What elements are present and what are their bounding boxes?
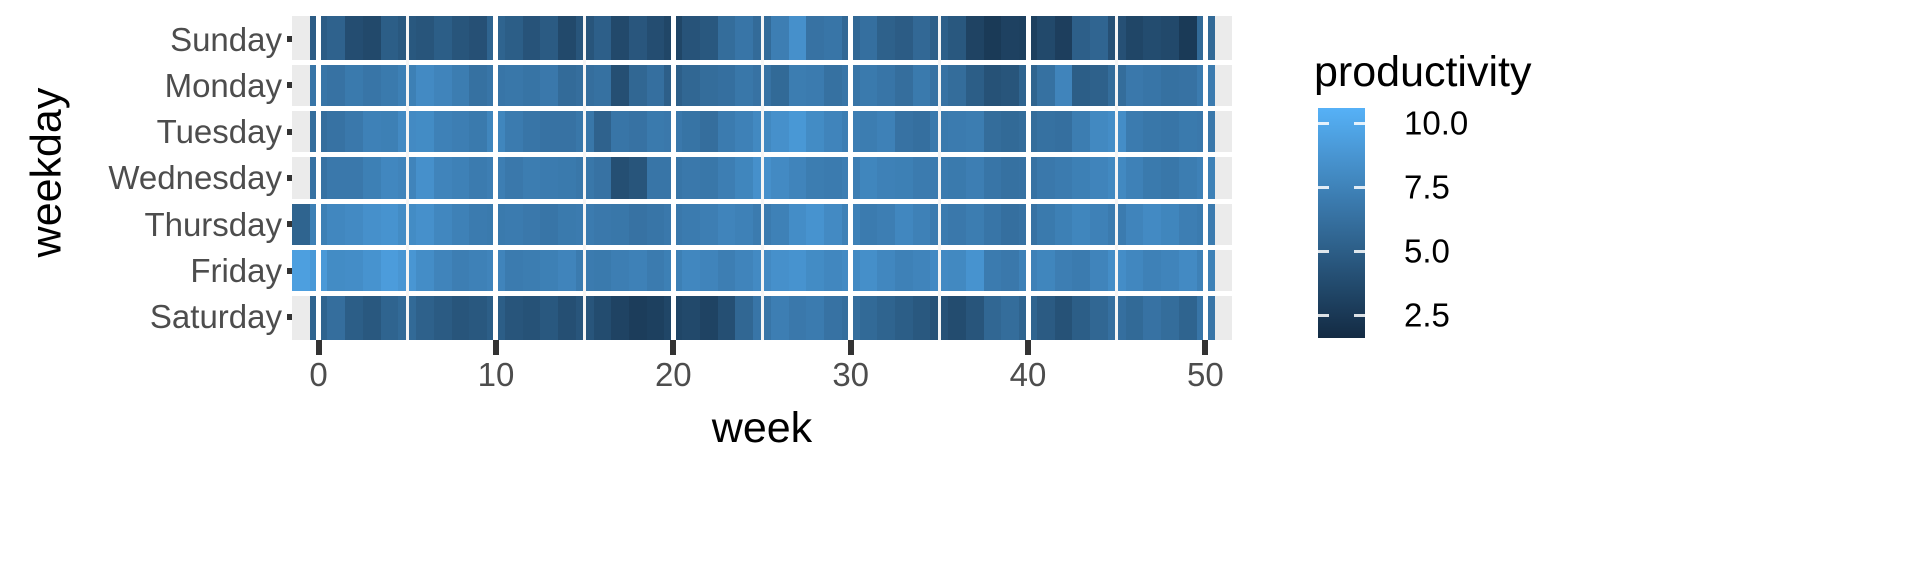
heatmap-tile — [345, 62, 363, 109]
heatmap-tile — [1037, 247, 1055, 294]
x-tick-label: 30 — [832, 358, 869, 391]
heatmap-tile — [1072, 62, 1090, 109]
heatmap-tile — [966, 109, 984, 156]
heatmap-tile — [629, 62, 647, 109]
heatmap-tile — [345, 294, 363, 340]
y-tick-friday: Friday — [82, 247, 282, 293]
heatmap-tile — [1001, 294, 1019, 340]
heatmap-tile — [771, 109, 789, 156]
heatmap-tile — [735, 62, 753, 109]
heatmap-tile — [1126, 109, 1144, 156]
heatmap-tile — [452, 16, 470, 63]
heatmap-tile — [540, 155, 558, 202]
heatmap-tile — [682, 247, 700, 294]
heatmap-tile — [611, 201, 629, 248]
y-tick-thursday: Thursday — [82, 201, 282, 247]
heatmap-tile — [540, 294, 558, 340]
heatmap-tile — [789, 109, 807, 156]
heatmap-tile — [913, 294, 931, 340]
heatmap-tile — [381, 16, 399, 63]
heatmap-tile — [523, 201, 541, 248]
heatmap-tile — [434, 294, 452, 340]
heatmap-tile — [381, 294, 399, 340]
heatmap-tile — [913, 201, 931, 248]
x-tick-mark — [1202, 340, 1208, 355]
heatmap-tile — [1055, 62, 1073, 109]
heatmap-tile — [647, 109, 665, 156]
heatmap-tile — [1161, 109, 1179, 156]
heatmap-tile — [895, 294, 913, 340]
heatmap-tile — [1126, 201, 1144, 248]
heatmap-tile — [1143, 294, 1161, 340]
heatmap-tile — [452, 109, 470, 156]
heatmap-tile — [984, 109, 1002, 156]
heatmap-tile — [327, 294, 345, 340]
heatmap-tile — [1090, 155, 1108, 202]
x-tick-label: 0 — [309, 358, 327, 391]
heatmap-tile — [860, 247, 878, 294]
heatmap-tile — [682, 109, 700, 156]
heatmap-tile — [416, 155, 434, 202]
legend-tick-label: 2.5 — [1404, 299, 1450, 332]
heatmap-tile — [824, 247, 842, 294]
vertical-gridline-minor — [1115, 16, 1118, 340]
legend-colorbar: 10.07.55.02.5 — [1318, 108, 1365, 338]
heatmap-tile — [771, 155, 789, 202]
y-tick-saturday: Saturday — [82, 294, 282, 340]
x-tick-mark — [670, 340, 676, 355]
heatmap-tile — [806, 155, 824, 202]
heatmap-tile — [771, 247, 789, 294]
heatmap-tile — [1143, 155, 1161, 202]
heatmap-tile — [327, 201, 345, 248]
heatmap-tile — [469, 247, 487, 294]
heatmap-tile — [505, 62, 523, 109]
heatmap-tile — [682, 294, 700, 340]
legend-tick-mark — [1354, 186, 1365, 189]
heatmap-tile — [948, 109, 966, 156]
legend-tick-mark — [1354, 314, 1365, 317]
heatmap-tile — [594, 201, 612, 248]
heatmap-tile — [895, 155, 913, 202]
heatmap-tile — [434, 155, 452, 202]
heatmap-tile — [416, 294, 434, 340]
heatmap-tile — [363, 16, 381, 63]
heatmap-tile — [558, 247, 576, 294]
heatmap-tile — [327, 16, 345, 63]
heatmap-tile — [505, 155, 523, 202]
heatmap-tile — [1037, 16, 1055, 63]
heatmap-tile — [416, 109, 434, 156]
heatmap-tile — [877, 16, 895, 63]
heatmap-tile — [966, 247, 984, 294]
heatmap-tile — [682, 16, 700, 63]
heatmap-tile — [1179, 294, 1197, 340]
heatmap-tile — [1126, 247, 1144, 294]
heatmap-tile — [1179, 109, 1197, 156]
heatmap-tile — [540, 109, 558, 156]
heatmap-tile — [1090, 62, 1108, 109]
heatmap-tile — [1001, 16, 1019, 63]
heatmap-tile — [895, 201, 913, 248]
heatmap-tile — [523, 247, 541, 294]
x-axis-title-text: week — [712, 404, 812, 452]
heatmap-tile — [416, 201, 434, 248]
heatmap-tile — [469, 109, 487, 156]
y-tick-label: Tuesday — [157, 115, 282, 148]
heatmap-tile — [1072, 16, 1090, 63]
heatmap-tile — [345, 16, 363, 63]
vertical-gridline-major — [671, 16, 676, 340]
vertical-gridline-minor — [938, 16, 941, 340]
heatmap-tile — [452, 247, 470, 294]
y-tick-label: Sunday — [170, 23, 282, 56]
heatmap-tile — [540, 201, 558, 248]
heatmap-tile — [416, 247, 434, 294]
heatmap-tile — [327, 109, 345, 156]
heatmap-tile — [452, 201, 470, 248]
heatmap-tile — [1161, 16, 1179, 63]
x-axis: 01020304050 — [292, 340, 1232, 400]
x-tick-mark — [848, 340, 854, 355]
heatmap-tile — [735, 16, 753, 63]
heatmap-tile — [966, 294, 984, 340]
y-tick-label: Thursday — [144, 208, 282, 241]
legend-title: productivity — [1314, 48, 1531, 97]
heatmap-tile — [806, 16, 824, 63]
heatmap-tile — [718, 294, 736, 340]
heatmap-tile — [469, 16, 487, 63]
heatmap-tile — [735, 201, 753, 248]
y-axis-title: weekday — [12, 0, 82, 345]
heatmap-tile — [700, 201, 718, 248]
heatmap-tile — [824, 294, 842, 340]
heatmap-tile — [682, 201, 700, 248]
heatmap-tile — [895, 62, 913, 109]
heatmap-tile — [523, 62, 541, 109]
legend-tick-mark — [1318, 314, 1329, 317]
heatmap-tile — [1143, 201, 1161, 248]
heatmap-tile — [1037, 109, 1055, 156]
heatmap-tile — [700, 155, 718, 202]
heatmap-tile — [327, 247, 345, 294]
heatmap-tile — [1161, 155, 1179, 202]
heatmap-tile — [363, 155, 381, 202]
heatmap-tile — [1126, 62, 1144, 109]
heatmap-tile — [789, 16, 807, 63]
heatmap-tile — [629, 201, 647, 248]
heatmap-tile — [1090, 109, 1108, 156]
heatmap-tile — [1055, 201, 1073, 248]
x-tick-label: 40 — [1010, 358, 1047, 391]
heatmap-tile — [469, 62, 487, 109]
heatmap-tile — [558, 16, 576, 63]
y-tick-label: Saturday — [150, 300, 282, 333]
y-tick-label: Friday — [190, 254, 282, 287]
y-tick-label: Wednesday — [108, 161, 282, 194]
heatmap-tile — [700, 16, 718, 63]
heatmap-tile — [558, 62, 576, 109]
heatmap-tile — [984, 247, 1002, 294]
vertical-gridline-major — [1203, 16, 1208, 340]
heatmap-tile — [948, 294, 966, 340]
heatmap-tile — [345, 155, 363, 202]
heatmap-tile — [345, 109, 363, 156]
heatmap-tile — [540, 16, 558, 63]
y-tick-monday: Monday — [82, 62, 282, 108]
heatmap-tile — [1161, 201, 1179, 248]
heatmap-tile — [1072, 109, 1090, 156]
heatmap-tile — [647, 201, 665, 248]
heatmap-tile — [682, 62, 700, 109]
heatmap-tile — [1143, 62, 1161, 109]
heatmap-tile — [966, 16, 984, 63]
y-tick-label: Monday — [165, 69, 282, 102]
x-tick-label: 50 — [1187, 358, 1224, 391]
heatmap-tile — [647, 155, 665, 202]
heatmap-tile — [771, 294, 789, 340]
heatmap-tile — [1037, 294, 1055, 340]
heatmap-tile — [860, 201, 878, 248]
x-tick-mark — [1025, 340, 1031, 355]
heatmap-tile — [789, 62, 807, 109]
y-tick-wednesday: Wednesday — [82, 155, 282, 201]
vertical-gridline-minor — [761, 16, 764, 340]
heatmap-tile-extra — [292, 201, 310, 248]
heatmap-tile — [877, 109, 895, 156]
heatmap-tile — [771, 16, 789, 63]
heatmap-tile — [700, 247, 718, 294]
legend-tick-mark — [1318, 122, 1329, 125]
heatmap-tile — [877, 155, 895, 202]
heatmap-tile — [594, 247, 612, 294]
heatmap-tile — [540, 62, 558, 109]
heatmap-tile — [789, 247, 807, 294]
vertical-gridline-major — [1026, 16, 1031, 340]
heatmap-tile — [948, 155, 966, 202]
legend: productivity 10.07.55.02.5 — [1300, 40, 1680, 340]
heatmap-tile — [1143, 247, 1161, 294]
heatmap-tile — [381, 109, 399, 156]
heatmap-tile — [984, 16, 1002, 63]
heatmap-tile — [1037, 155, 1055, 202]
heatmap-tile — [1126, 16, 1144, 63]
heatmap-tile — [877, 201, 895, 248]
heatmap-tile — [806, 247, 824, 294]
heatmap-tile — [523, 16, 541, 63]
plot-panel — [292, 16, 1232, 340]
heatmap-tile — [1072, 294, 1090, 340]
heatmap-tile — [381, 201, 399, 248]
heatmap-tile — [824, 62, 842, 109]
y-tick-tuesday: Tuesday — [82, 109, 282, 155]
heatmap-tile — [647, 16, 665, 63]
heatmap-tile — [327, 155, 345, 202]
heatmap-tile — [452, 294, 470, 340]
heatmap-tile — [895, 247, 913, 294]
heatmap-tile — [806, 62, 824, 109]
heatmap-tile — [558, 294, 576, 340]
heatmap-tile — [1179, 201, 1197, 248]
heatmap-tile — [1072, 201, 1090, 248]
heatmap-tile — [1072, 247, 1090, 294]
heatmap-tile — [505, 247, 523, 294]
heatmap-tile — [682, 155, 700, 202]
heatmap-tile — [363, 109, 381, 156]
x-tick-mark — [493, 340, 499, 355]
heatmap-tile — [1055, 155, 1073, 202]
heatmap-tile — [1090, 294, 1108, 340]
heatmap-tile — [611, 155, 629, 202]
heatmap-tile — [594, 155, 612, 202]
heatmap-tile — [452, 62, 470, 109]
heatmap-tile — [505, 109, 523, 156]
heatmap-tile — [984, 155, 1002, 202]
heatmap-tile — [523, 155, 541, 202]
heatmap-tile — [700, 294, 718, 340]
heatmap-tile — [735, 247, 753, 294]
x-tick-label: 10 — [478, 358, 515, 391]
heatmap-tile — [416, 16, 434, 63]
heatmap-tile — [718, 109, 736, 156]
heatmap-tile — [771, 201, 789, 248]
heatmap-tile — [948, 62, 966, 109]
legend-tick-mark — [1354, 122, 1365, 125]
heatmap-tile — [895, 16, 913, 63]
heatmap-tile — [1161, 62, 1179, 109]
heatmap-tile — [1143, 16, 1161, 63]
heatmap-tile — [913, 109, 931, 156]
heatmap-tile — [1001, 155, 1019, 202]
heatmap-tile — [860, 155, 878, 202]
heatmap-tile — [363, 294, 381, 340]
heatmap-tile — [966, 201, 984, 248]
heatmap-tile — [860, 294, 878, 340]
heatmap-tile — [789, 294, 807, 340]
heatmap-tile — [558, 109, 576, 156]
heatmap-tile — [1001, 109, 1019, 156]
heatmap-tile — [948, 16, 966, 63]
heatmap-tile — [1161, 294, 1179, 340]
heatmap-tile — [806, 294, 824, 340]
heatmap-tile — [469, 201, 487, 248]
heatmap-tile — [1179, 16, 1197, 63]
heatmap-tile — [345, 247, 363, 294]
heatmap-tile — [860, 16, 878, 63]
heatmap-tile — [913, 155, 931, 202]
heatmap-tile — [966, 155, 984, 202]
heatmap-tile — [1001, 201, 1019, 248]
heatmap-tile — [327, 62, 345, 109]
heatmap-tile — [629, 294, 647, 340]
heatmap-tile — [1179, 247, 1197, 294]
heatmap-tile — [1179, 155, 1197, 202]
heatmap-tile — [735, 294, 753, 340]
heatmap-tile — [1001, 62, 1019, 109]
heatmap-tile — [594, 109, 612, 156]
heatmap-tile — [824, 201, 842, 248]
heatmap-tile — [1055, 16, 1073, 63]
heatmap-tile — [984, 62, 1002, 109]
heatmap-tile — [1055, 247, 1073, 294]
heatmap-tile — [363, 62, 381, 109]
heatmap-tile — [594, 62, 612, 109]
heatmap-tile — [469, 294, 487, 340]
heatmap-tile — [824, 109, 842, 156]
heatmap-tile — [345, 201, 363, 248]
y-axis-title-text: weekday — [23, 88, 72, 258]
heatmap-tile — [1055, 294, 1073, 340]
heatmap-tile — [647, 294, 665, 340]
heatmap-tile — [1072, 155, 1090, 202]
heatmap-tile — [824, 155, 842, 202]
legend-tick-label: 10.0 — [1404, 107, 1468, 140]
heatmap-tile — [594, 16, 612, 63]
heatmap-tile — [611, 109, 629, 156]
heatmap-tile — [984, 201, 1002, 248]
heatmap-tile — [1055, 109, 1073, 156]
heatmap-tile — [611, 247, 629, 294]
heatmap-tile — [913, 16, 931, 63]
heatmap-tile — [1090, 16, 1108, 63]
heatmap-tile — [735, 109, 753, 156]
heatmap-tile — [718, 16, 736, 63]
x-tick-mark — [316, 340, 322, 355]
heatmap-tile — [860, 62, 878, 109]
heatmap-tile — [434, 201, 452, 248]
heatmap-tile — [611, 16, 629, 63]
heatmap-tile — [647, 62, 665, 109]
heatmap-tile — [913, 62, 931, 109]
heatmap-tile — [452, 155, 470, 202]
heatmap-tile — [505, 16, 523, 63]
x-axis-title: week — [292, 404, 1232, 453]
legend-tick-label: 5.0 — [1404, 235, 1450, 268]
heatmap-tile — [877, 294, 895, 340]
heatmap-tile — [381, 247, 399, 294]
heatmap-tile — [1090, 247, 1108, 294]
heatmap-tile — [1126, 294, 1144, 340]
heatmap-tile — [434, 16, 452, 63]
heatmap-tile — [1037, 62, 1055, 109]
heatmap-tile — [824, 16, 842, 63]
heatmap-tile — [469, 155, 487, 202]
heatmap-tile — [966, 62, 984, 109]
heatmap-tile — [629, 16, 647, 63]
heatmap-tile — [647, 247, 665, 294]
heatmap-tile — [363, 247, 381, 294]
heatmap-tile — [948, 201, 966, 248]
vertical-gridline-major — [848, 16, 853, 340]
legend-tick-mark — [1318, 250, 1329, 253]
heatmap-tile — [381, 155, 399, 202]
heatmap-tile — [629, 155, 647, 202]
heatmap-tile — [558, 155, 576, 202]
heatmap-tile — [1179, 62, 1197, 109]
y-axis-tick-labels: SundayMondayTuesdayWednesdayThursdayFrid… — [82, 16, 282, 340]
heatmap-tile — [1037, 201, 1055, 248]
heatmap-tile — [718, 201, 736, 248]
heatmap-tile — [913, 247, 931, 294]
heatmap-tile — [523, 294, 541, 340]
heatmap-tile — [718, 247, 736, 294]
heatmap-tile — [363, 201, 381, 248]
heatmap-tile — [718, 155, 736, 202]
heatmap-tile — [629, 247, 647, 294]
heatmap-tile — [611, 62, 629, 109]
heatmap-tile — [806, 201, 824, 248]
heatmap-tile — [611, 294, 629, 340]
